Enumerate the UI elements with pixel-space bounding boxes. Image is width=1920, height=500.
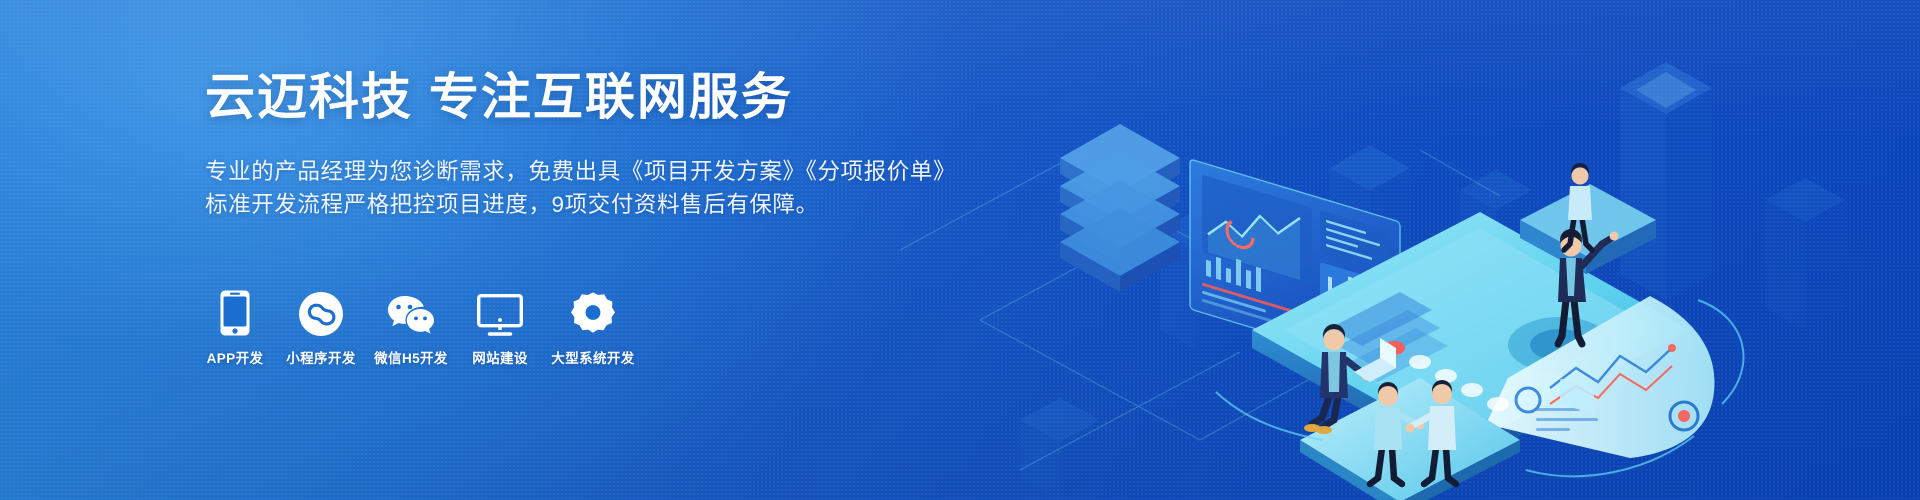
- service-item-website[interactable]: 网站建设: [460, 286, 540, 367]
- wechat-icon: [386, 286, 436, 336]
- banner-copy: 云迈科技 专注互联网服务 专业的产品经理为您诊断需求，免费出具《项目开发方案》《…: [205, 68, 1105, 222]
- dashboard-screen: [1160, 142, 1520, 410]
- subtitle-block: 专业的产品经理为您诊断需求，免费出具《项目开发方案》《分项报价单》 标准开发流程…: [205, 155, 1105, 222]
- person-pair: [1370, 380, 1456, 484]
- person-with-laptop: [1304, 324, 1396, 434]
- small-tablet-platform: [1300, 378, 1520, 500]
- service-item-app[interactable]: APP开发: [198, 286, 272, 367]
- subtitle-line-1: 专业的产品经理为您诊断需求，免费出具《项目开发方案》《分项报价单》: [205, 155, 1105, 188]
- glow-paths: [1216, 300, 1744, 476]
- service-label: 小程序开发: [286, 347, 356, 367]
- service-label: 大型系统开发: [551, 347, 634, 367]
- page-title: 云迈科技 专注互联网服务: [205, 68, 1105, 127]
- toggle-row: [1383, 341, 1509, 411]
- side-platform: [1520, 184, 1656, 414]
- service-label: APP开发: [207, 347, 264, 367]
- mini-program-icon: [299, 286, 343, 336]
- service-label: 网站建设: [472, 347, 528, 367]
- tablet-platform: [1252, 212, 1690, 466]
- gear-icon: [571, 286, 615, 336]
- service-item-mini-program[interactable]: 小程序开发: [280, 286, 362, 367]
- person-side: [1564, 163, 1592, 250]
- service-item-wechat-h5[interactable]: 微信H5开发: [368, 286, 454, 367]
- data-chart-sheet: [1486, 296, 1714, 458]
- service-item-large-system[interactable]: 大型系统开发: [546, 286, 640, 367]
- service-list: APP开发 小程序开发 微信: [198, 286, 646, 367]
- dashboard-panel: [1192, 150, 1508, 260]
- smartphone-icon: [220, 286, 250, 336]
- person-presenting: [1558, 229, 1619, 344]
- service-label: 微信H5开发: [374, 347, 448, 367]
- monitor-icon: [477, 286, 523, 336]
- city-buildings: [1020, 62, 1845, 500]
- subtitle-line-2: 标准开发流程严格把控项目进度，9项交付资料售后有保障。: [205, 188, 1105, 221]
- promo-banner: 云迈科技 专注互联网服务 专业的产品经理为您诊断需求，免费出具《项目开发方案》《…: [0, 0, 1920, 500]
